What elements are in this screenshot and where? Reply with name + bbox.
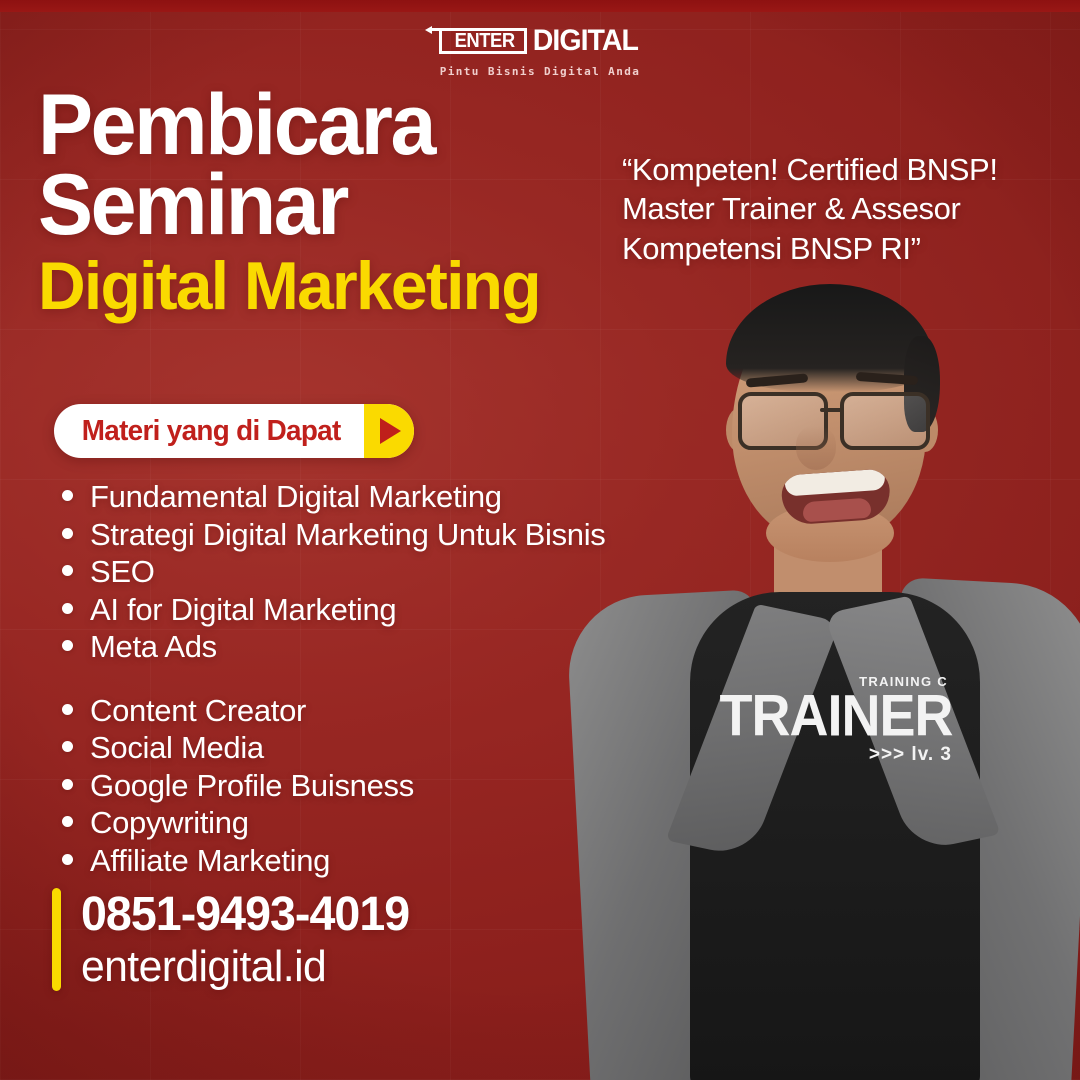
bullet-icon — [62, 640, 73, 651]
bullet-icon — [62, 816, 73, 827]
list-item-label: AI for Digital Marketing — [90, 591, 396, 629]
list-item-label: Copywriting — [90, 804, 249, 842]
bullet-icon — [62, 741, 73, 752]
list-item-label: Affiliate Marketing — [90, 842, 330, 880]
logo-enter-box: ENTER — [439, 28, 527, 54]
list-item: AI for Digital Marketing — [56, 591, 606, 629]
bullet-icon — [62, 565, 73, 576]
materials-group-2: Content Creator Social Media Google Prof… — [56, 692, 606, 880]
list-item: Affiliate Marketing — [56, 842, 606, 880]
materials-badge-label: Materi yang di Dapat — [82, 415, 358, 448]
bullet-icon — [62, 528, 73, 539]
speaker-portrait: TRAINING C TRAINER >>> lv. 3 — [560, 276, 1080, 1080]
list-item: Meta Ads — [56, 628, 606, 666]
yellow-accent-bar — [52, 888, 61, 991]
bullet-icon — [62, 603, 73, 614]
speaker-quote: “Kompeten! Certified BNSP! Master Traine… — [622, 150, 1022, 268]
headline-line-1: Pembicara — [38, 86, 535, 166]
bullet-icon — [62, 490, 73, 501]
list-item-label: Content Creator — [90, 692, 306, 730]
list-item-label: Fundamental Digital Marketing — [90, 478, 502, 516]
contact-website[interactable]: enterdigital.id — [81, 942, 409, 991]
headline-block: Pembicara Seminar Digital Marketing — [38, 86, 555, 326]
list-item-label: Meta Ads — [90, 628, 217, 666]
headline-line-3: Digital Marketing — [38, 246, 540, 326]
list-item: Strategi Digital Marketing Untuk Bisnis — [56, 516, 606, 554]
list-item-label: Google Profile Buisness — [90, 767, 414, 805]
list-item: SEO — [56, 553, 606, 591]
brand-logo: ENTER DIGITAL Pintu Bisnis Digital Anda — [0, 24, 1080, 78]
list-item-label: SEO — [90, 553, 155, 591]
materials-group-1: Fundamental Digital Marketing Strategi D… — [56, 478, 606, 666]
poster-canvas: TRAINING C TRAINER >>> lv. 3 ENTER D — [0, 0, 1080, 1080]
logo-enter-text: ENTER — [455, 31, 515, 51]
list-item: Fundamental Digital Marketing — [56, 478, 606, 516]
bullet-icon — [62, 779, 73, 790]
nose — [796, 426, 836, 470]
contact-block: 0851-9493-4019 enterdigital.id — [52, 888, 419, 991]
logo-digital-text: DIGITAL — [533, 26, 638, 56]
materials-badge[interactable]: Materi yang di Dapat — [54, 404, 414, 458]
list-item: Google Profile Buisness — [56, 767, 606, 805]
top-color-band — [0, 0, 1080, 12]
brand-tagline: Pintu Bisnis Digital Anda — [440, 65, 641, 78]
list-item: Social Media — [56, 729, 606, 767]
list-item-label: Strategi Digital Marketing Untuk Bisnis — [90, 516, 606, 554]
play-triangle-icon — [364, 404, 414, 458]
list-item-label: Social Media — [90, 729, 264, 767]
contact-phone-number[interactable]: 0851-9493-4019 — [81, 888, 409, 942]
headline-line-2: Seminar — [38, 166, 535, 246]
materials-list: Fundamental Digital Marketing Strategi D… — [56, 478, 606, 879]
list-item: Content Creator — [56, 692, 606, 730]
left-arrow-icon — [425, 24, 447, 35]
list-item: Copywriting — [56, 804, 606, 842]
bullet-icon — [62, 854, 73, 865]
bullet-icon — [62, 704, 73, 715]
